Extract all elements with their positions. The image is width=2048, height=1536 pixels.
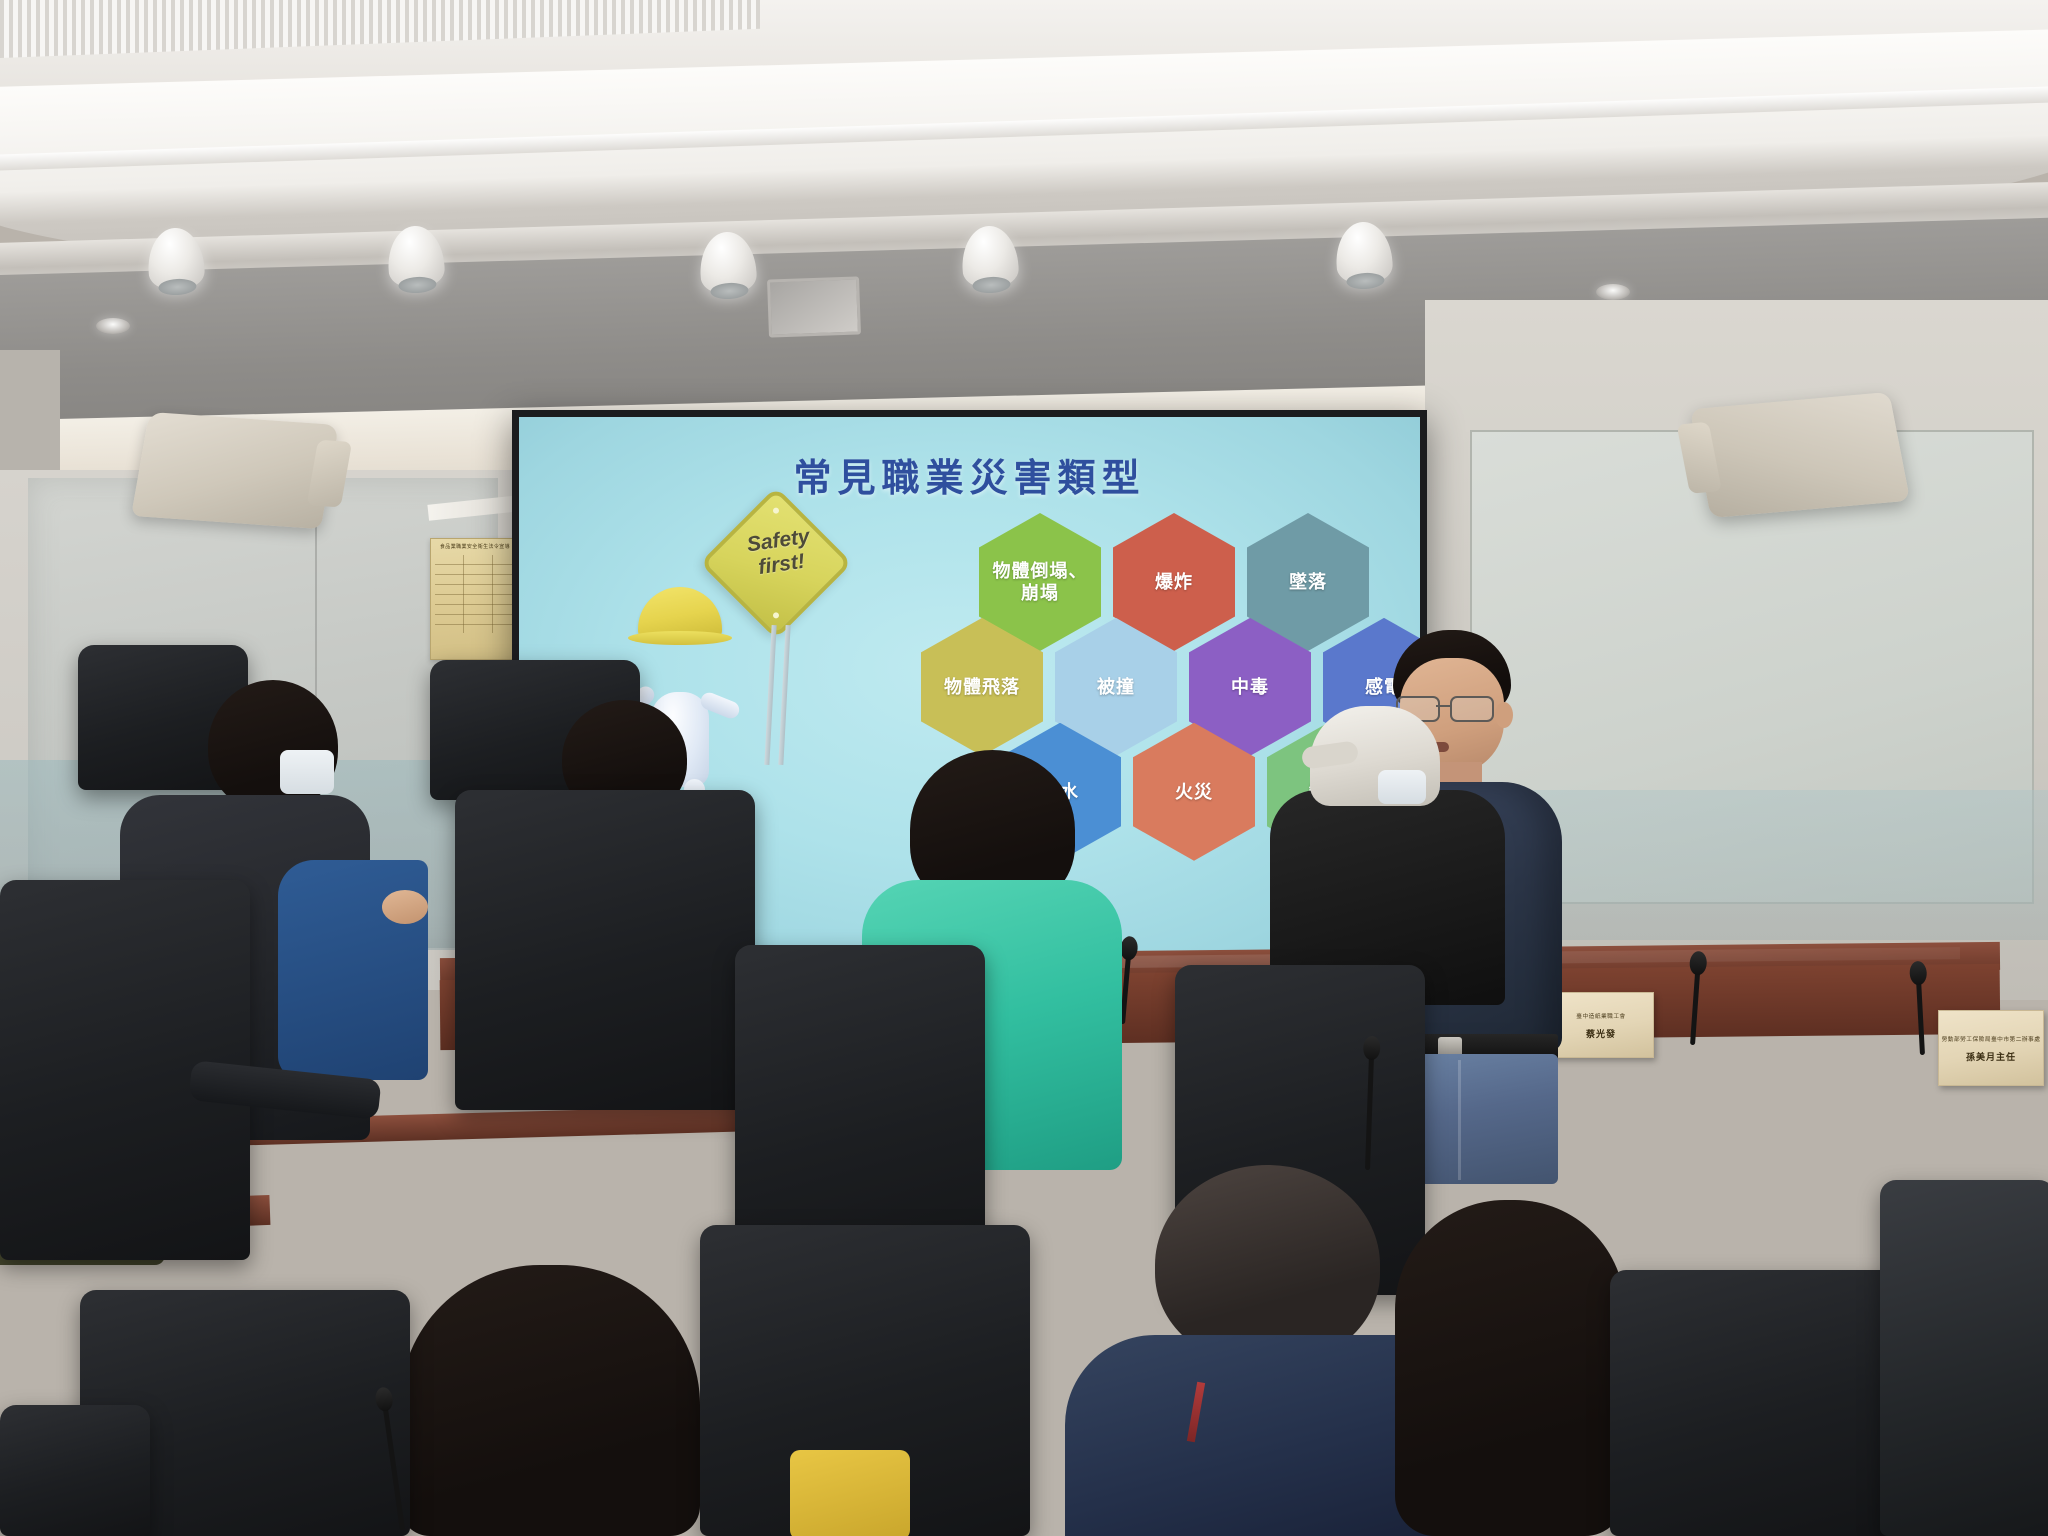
audience-chair bbox=[1880, 1180, 2048, 1536]
mascot-hardhat-brim bbox=[628, 631, 732, 645]
ceiling-downlight-icon bbox=[96, 318, 130, 334]
notice-board-table bbox=[435, 555, 515, 633]
audience-chair bbox=[1610, 1270, 1910, 1536]
hazard-hexagon-label: 火災 bbox=[1169, 781, 1219, 803]
hazard-hexagon-label: 物體倒塌、崩塌 bbox=[979, 560, 1101, 604]
name-placard: 勞動部勞工保險局臺中市第二辦事處 孫美月主任 bbox=[1938, 1010, 2044, 1086]
safety-sign-post bbox=[778, 625, 790, 765]
placard-org: 勞動部勞工保險局臺中市第二辦事處 bbox=[1942, 1034, 2041, 1043]
notice-board-title: 食品業職業安全衛生法令宣導 bbox=[431, 539, 519, 551]
wall-loudspeaker-right bbox=[1690, 392, 1910, 518]
slide-title: 常見職業災害類型 bbox=[519, 447, 1420, 502]
placard-name: 孫美月主任 bbox=[1966, 1050, 2016, 1063]
face-mask bbox=[280, 750, 334, 794]
hazard-hexagon-label: 墜落 bbox=[1283, 571, 1333, 593]
hazard-hexagon-label: 被撞 bbox=[1091, 676, 1141, 698]
face-mask bbox=[1378, 770, 1426, 804]
safety-sign-post bbox=[764, 625, 776, 765]
safety-first-sign: Safety first! bbox=[722, 509, 852, 639]
notice-board: 食品業職業安全衛生法令宣導 bbox=[430, 538, 520, 660]
hazard-hexagon-label: 中毒 bbox=[1225, 676, 1275, 698]
hazard-hexagon-label: 爆炸 bbox=[1149, 571, 1199, 593]
audience-chair bbox=[455, 790, 755, 1110]
audience-head bbox=[1395, 1200, 1625, 1536]
hazard-hexagon-label: 物體飛落 bbox=[938, 676, 1026, 698]
audience-head bbox=[400, 1265, 700, 1536]
yellow-bag bbox=[790, 1450, 910, 1536]
presentation-room-photo: 食品業職業安全衛生法令宣導 常見職業災害類型 bbox=[0, 0, 2048, 1536]
ceiling-square-vent bbox=[767, 276, 861, 337]
audience-chair bbox=[0, 1405, 150, 1536]
ceiling-downlight-icon bbox=[1596, 284, 1630, 300]
audience-hand bbox=[382, 890, 428, 924]
wall-loudspeaker-left bbox=[131, 412, 339, 529]
mascot-hardhat-icon bbox=[638, 587, 722, 637]
